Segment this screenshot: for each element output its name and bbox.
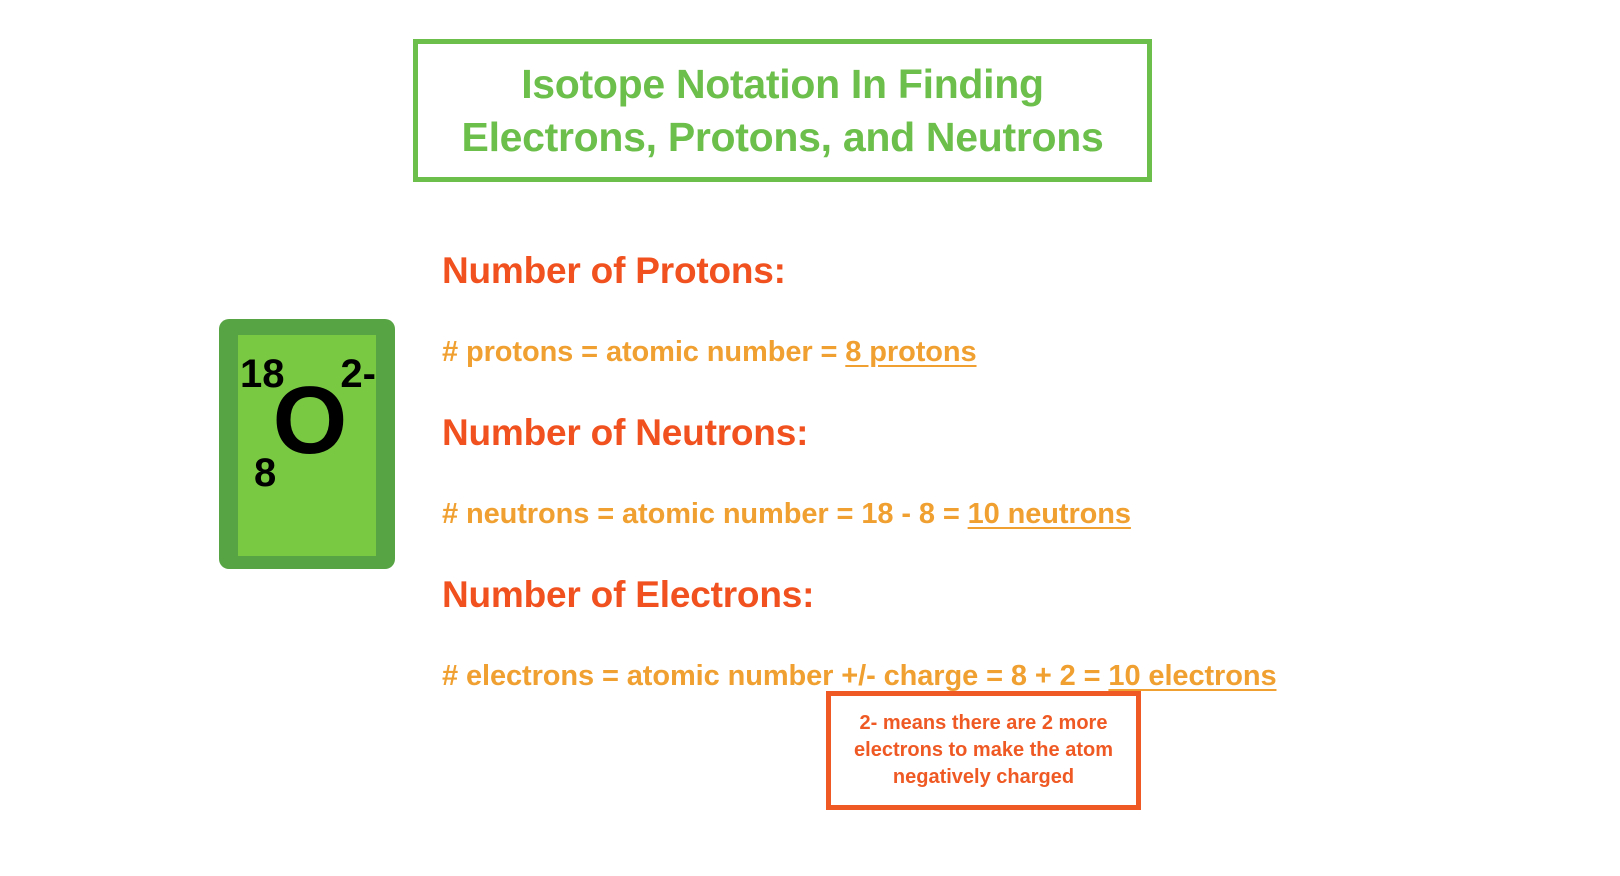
electrons-formula-text: # electrons = atomic number +/- charge =… <box>442 660 1108 692</box>
element-tile-inner: 18 2- O 8 <box>238 335 376 556</box>
heading-number-of-protons: Number of Protons: <box>442 252 1472 289</box>
heading-number-of-electrons: Number of Electrons: <box>442 576 1472 613</box>
protons-formula-text: # protons = atomic number = <box>442 336 845 368</box>
title-line-1: Isotope Notation In Finding <box>521 61 1044 107</box>
protons-answer: 8 protons <box>845 336 976 368</box>
atomic-number-label: 8 <box>254 453 276 493</box>
line-neutrons-calculation: # neutrons = atomic number = 18 - 8 = 10… <box>442 500 1472 529</box>
neutrons-formula-text: # neutrons = atomic number = 18 - 8 = <box>442 498 968 530</box>
content-column: Number of Protons: # protons = atomic nu… <box>442 252 1472 691</box>
callout-text: 2- means there are 2 more electrons to m… <box>831 710 1136 791</box>
electrons-answer: 10 electrons <box>1108 660 1276 692</box>
line-protons-calculation: # protons = atomic number = 8 protons <box>442 338 1472 367</box>
callout-box-charge-explanation: 2- means there are 2 more electrons to m… <box>826 691 1141 810</box>
line-electrons-calculation: # electrons = atomic number +/- charge =… <box>442 662 1472 691</box>
neutrons-answer: 10 neutrons <box>968 498 1131 530</box>
title-line-2: Electrons, Protons, and Neutrons <box>462 114 1104 160</box>
page-title: Isotope Notation In Finding Electrons, P… <box>454 58 1112 163</box>
element-symbol-label: O <box>273 373 348 469</box>
title-box: Isotope Notation In Finding Electrons, P… <box>413 39 1152 182</box>
heading-number-of-neutrons: Number of Neutrons: <box>442 414 1472 451</box>
element-tile-oxygen: 18 2- O 8 <box>219 319 395 569</box>
